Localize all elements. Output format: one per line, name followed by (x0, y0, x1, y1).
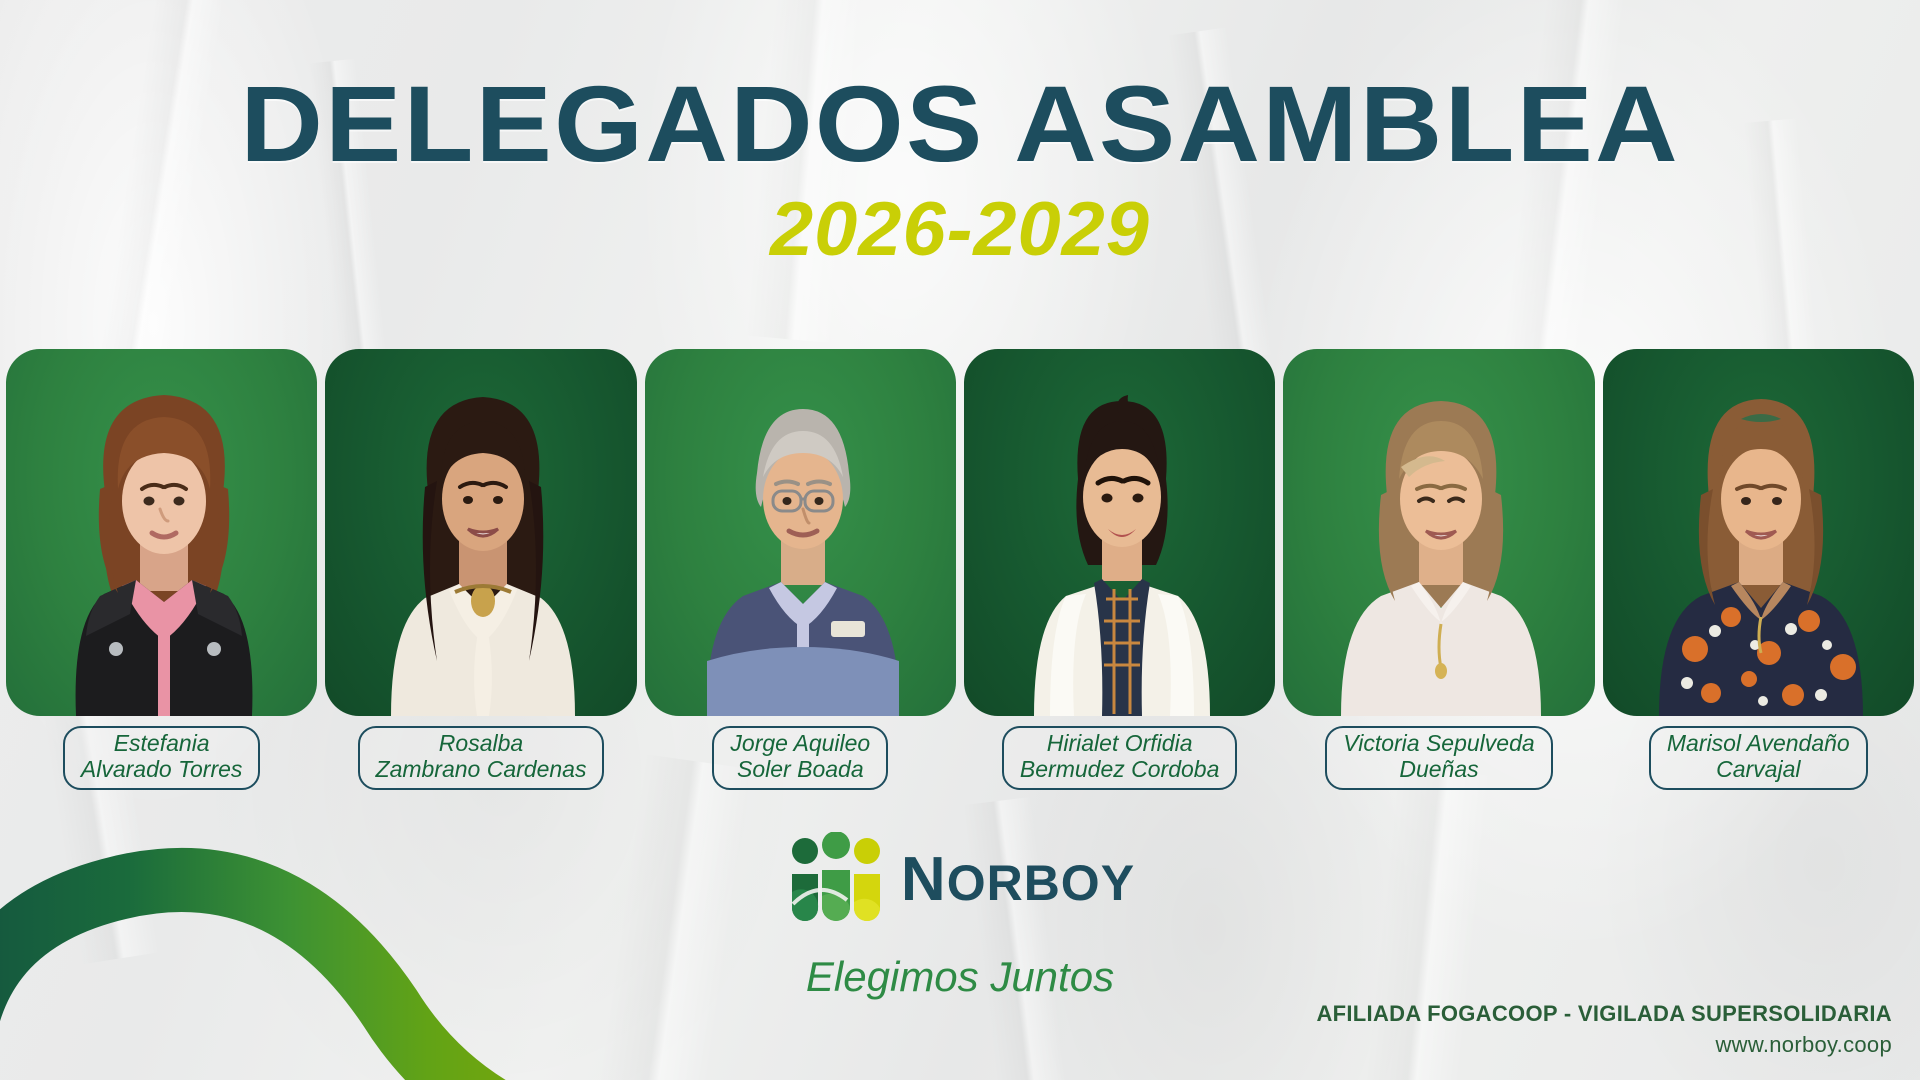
delegate-name-plate[interactable]: Hirialet Orfidia Bermudez Cordoba (1002, 726, 1237, 790)
delegate-portrait (1283, 349, 1594, 716)
footer-website[interactable]: www.norboy.coop (1316, 1032, 1892, 1058)
delegate-first-name: Marisol Avendaño (1667, 730, 1850, 756)
delegate-name-plate[interactable]: Victoria Sepulveda Dueñas (1325, 726, 1552, 790)
delegate-last-name: Soler Boada (730, 757, 870, 783)
brand-tagline: Elegimos Juntos (806, 956, 1114, 998)
poster-headings: DELEGADOS ASAMBLEA 2026-2029 (0, 70, 1920, 268)
brand-wordmark: NORBOY (901, 849, 1135, 911)
delegate-first-name: Estefania (114, 730, 210, 756)
name-cell: Rosalba Zambrano Cardenas (325, 726, 636, 792)
delegate-first-name: Victoria Sepulveda (1343, 730, 1534, 756)
delegate-first-name: Rosalba (439, 730, 523, 756)
name-cell: Marisol Avendaño Carvajal (1603, 726, 1914, 792)
delegate-card[interactable] (645, 349, 956, 716)
three-people-leaf-logo-icon (785, 832, 887, 928)
delegate-card[interactable] (6, 349, 317, 716)
page-title: DELEGADOS ASAMBLEA (0, 70, 1920, 178)
name-cell: Hirialet Orfidia Bermudez Cordoba (964, 726, 1275, 792)
wordmark-rest: ORBOY (947, 855, 1135, 911)
delegate-portrait (325, 349, 636, 716)
delegate-last-name: Alvarado Torres (81, 757, 243, 783)
delegate-portrait (6, 349, 317, 716)
footer-legal: AFILIADA FOGACOOP - VIGILADA SUPERSOLIDA… (1316, 1001, 1892, 1058)
poster-canvas: DELEGADOS ASAMBLEA 2026-2029 (0, 0, 1920, 1080)
delegate-portrait (964, 349, 1275, 716)
wordmark-initial: N (901, 845, 947, 914)
name-cell: Estefania Alvarado Torres (6, 726, 317, 792)
delegate-name-plate[interactable]: Jorge Aquileo Soler Boada (712, 726, 888, 790)
delegate-last-name: Zambrano Cardenas (376, 757, 587, 783)
delegate-last-name: Bermudez Cordoba (1020, 757, 1219, 783)
delegate-last-name: Dueñas (1343, 757, 1534, 783)
page-subtitle: 2026-2029 (0, 192, 1920, 268)
delegate-card[interactable] (325, 349, 636, 716)
delegate-card-row (6, 349, 1914, 716)
delegate-first-name: Jorge Aquileo (730, 730, 870, 756)
delegate-name-plate[interactable]: Estefania Alvarado Torres (63, 726, 261, 790)
footer-affiliation: AFILIADA FOGACOOP - VIGILADA SUPERSOLIDA… (1316, 1001, 1892, 1027)
delegate-first-name: Hirialet Orfidia (1047, 730, 1193, 756)
delegate-name-plate[interactable]: Rosalba Zambrano Cardenas (358, 726, 605, 790)
delegate-card[interactable] (1283, 349, 1594, 716)
delegate-last-name: Carvajal (1667, 757, 1850, 783)
delegate-name-plate[interactable]: Marisol Avendaño Carvajal (1649, 726, 1868, 790)
delegate-name-row: Estefania Alvarado Torres Rosalba Zambra… (6, 726, 1914, 792)
name-cell: Jorge Aquileo Soler Boada (645, 726, 956, 792)
delegate-portrait (1603, 349, 1914, 716)
delegate-card[interactable] (1603, 349, 1914, 716)
delegate-portrait (645, 349, 956, 716)
name-cell: Victoria Sepulveda Dueñas (1283, 726, 1594, 792)
decorative-wave (0, 820, 700, 1080)
logo-row[interactable]: NORBOY (785, 832, 1135, 928)
delegate-card[interactable] (964, 349, 1275, 716)
